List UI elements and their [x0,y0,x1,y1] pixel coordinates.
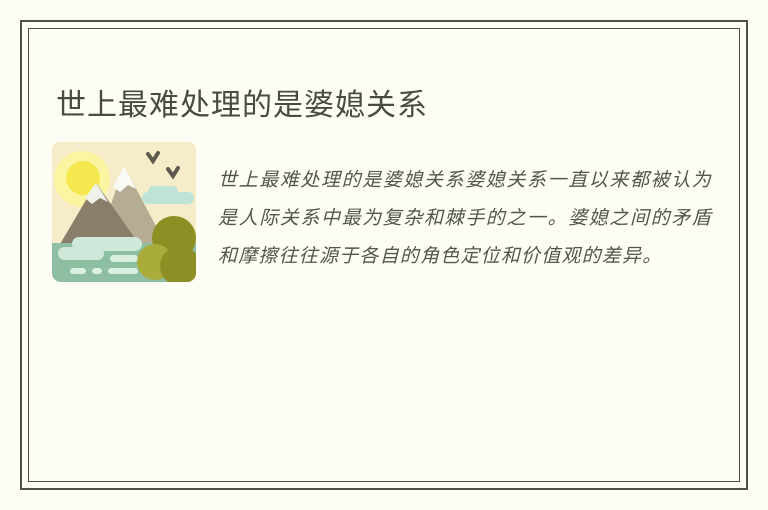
article-content: 世上最难处理的是婆媳关系 [28,28,740,482]
page-title: 世上最难处理的是婆媳关系 [56,86,428,126]
mountain-landscape-icon [52,142,196,282]
article-page: 世上最难处理的是婆媳关系 [0,0,768,510]
article-body: 世上最难处理的是婆媳关系婆媳关系一直以来都被认为是人际关系中最为复杂和棘手的之一… [52,142,712,294]
article-thumbnail-image [52,142,196,282]
